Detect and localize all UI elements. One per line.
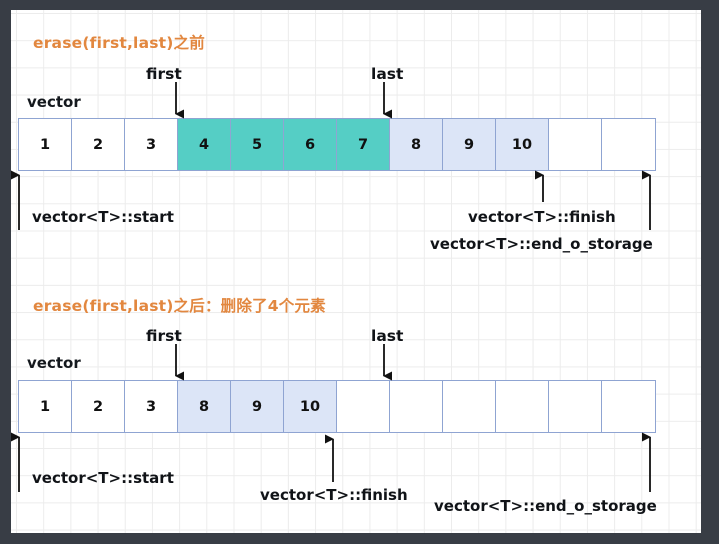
before-vector-label: vector	[27, 93, 81, 111]
after-cell	[443, 381, 496, 432]
after-cell: 10	[284, 381, 337, 432]
after-cell: 8	[178, 381, 231, 432]
before-finish-label: vector<T>::finish	[468, 208, 616, 226]
before-cell	[602, 119, 655, 170]
before-cell	[549, 119, 602, 170]
diagram-canvas: erase(first,last)之前 vector first last 12…	[11, 10, 701, 533]
before-cell: 8	[390, 119, 443, 170]
before-start-label: vector<T>::start	[32, 208, 174, 226]
after-first-label: first	[146, 327, 182, 345]
after-cell	[390, 381, 443, 432]
before-cell: 6	[284, 119, 337, 170]
before-last-label: last	[371, 65, 403, 83]
before-end-of-storage-label: vector<T>::end_o_storage	[430, 235, 653, 253]
after-start-label: vector<T>::start	[32, 469, 174, 487]
after-cell: 2	[72, 381, 125, 432]
after-finish-label: vector<T>::finish	[260, 486, 408, 504]
before-cell: 3	[125, 119, 178, 170]
before-cell: 9	[443, 119, 496, 170]
after-end-of-storage-label: vector<T>::end_o_storage	[434, 497, 657, 515]
after-cell	[602, 381, 655, 432]
after-cell: 9	[231, 381, 284, 432]
after-vector-label: vector	[27, 354, 81, 372]
after-cell: 3	[125, 381, 178, 432]
before-cell: 10	[496, 119, 549, 170]
after-last-label: last	[371, 327, 403, 345]
before-cell: 7	[337, 119, 390, 170]
after-title: erase(first,last)之后：删除了4个元素	[33, 294, 326, 316]
before-array: 12345678910	[18, 118, 656, 171]
before-first-label: first	[146, 65, 182, 83]
after-cell: 1	[19, 381, 72, 432]
before-cell: 2	[72, 119, 125, 170]
before-cell: 4	[178, 119, 231, 170]
after-array: 1238910	[18, 380, 656, 433]
arrow-overlay	[11, 10, 701, 533]
after-cell	[549, 381, 602, 432]
before-cell: 1	[19, 119, 72, 170]
after-cell	[496, 381, 549, 432]
before-title: erase(first,last)之前	[33, 31, 205, 53]
before-cell: 5	[231, 119, 284, 170]
after-cell	[337, 381, 390, 432]
